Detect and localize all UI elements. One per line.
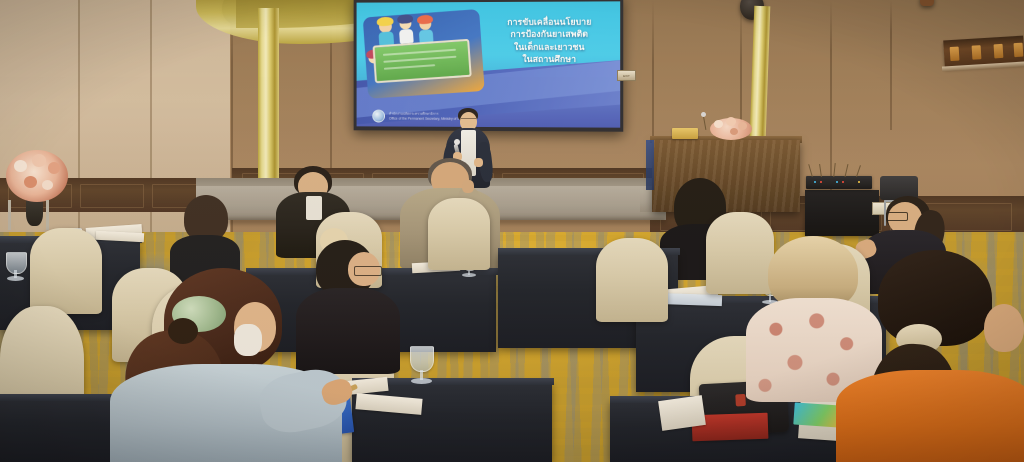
glasses-icon bbox=[886, 212, 908, 221]
slide-title-line-1: การขับเคลื่อนนโยบาย bbox=[485, 16, 614, 29]
table-front-center bbox=[352, 382, 552, 462]
documents bbox=[658, 395, 706, 431]
chair-cover bbox=[596, 238, 668, 322]
face-mask bbox=[234, 324, 262, 356]
wall-seam bbox=[830, 0, 832, 200]
glass-foot bbox=[7, 276, 24, 281]
vase-stand-leg bbox=[46, 200, 49, 230]
chair-cover bbox=[30, 228, 102, 314]
audience-member-foreground bbox=[110, 268, 360, 462]
blue-banner bbox=[646, 140, 654, 190]
brochure-color-panel bbox=[793, 402, 840, 427]
mic-head-icon bbox=[701, 112, 706, 117]
wireless-receiver-rack bbox=[806, 176, 872, 189]
hair-scrunchie bbox=[168, 318, 198, 344]
chair-cover bbox=[428, 198, 490, 270]
gold-curtain-center bbox=[258, 8, 279, 186]
presenter-glasses-icon bbox=[461, 118, 476, 122]
wall-seam bbox=[150, 0, 152, 250]
audience-torso-orange bbox=[836, 370, 1024, 462]
ministry-logo-icon bbox=[372, 110, 385, 123]
vase-stand-leg bbox=[8, 200, 11, 230]
slide-title-line-3: ในเด็กและเยาวชน bbox=[485, 41, 614, 54]
slide-title-line-4: ในสถานศึกษา bbox=[485, 53, 614, 66]
audience-member-foreground bbox=[836, 250, 1024, 462]
cartoon-green-board bbox=[373, 39, 472, 84]
microphone-head-icon bbox=[454, 139, 460, 145]
audience-shirt-collar bbox=[306, 196, 322, 220]
gold-gift-box bbox=[672, 128, 698, 139]
slide-title-line-2: การป้องกันยาเสพติด bbox=[485, 28, 614, 41]
bag-logo-icon bbox=[735, 394, 746, 407]
audience-head bbox=[984, 304, 1024, 352]
slide-title: การขับเคลื่อนนโยบาย การป้องกันยาเสพติด ใ… bbox=[485, 16, 614, 66]
slide-artwork bbox=[363, 9, 485, 99]
ceiling-light bbox=[920, 0, 934, 6]
wall-seam bbox=[890, 0, 892, 130]
exit-sign: EXIT bbox=[617, 70, 636, 81]
audience-hand bbox=[462, 180, 474, 193]
conference-room-photo: การขับเคลื่อนนโยบาย การป้องกันยาเสพติด ใ… bbox=[0, 0, 1024, 462]
water-glass bbox=[410, 346, 434, 372]
cartoon-kid-body bbox=[399, 29, 414, 44]
wall-seam bbox=[78, 0, 80, 250]
